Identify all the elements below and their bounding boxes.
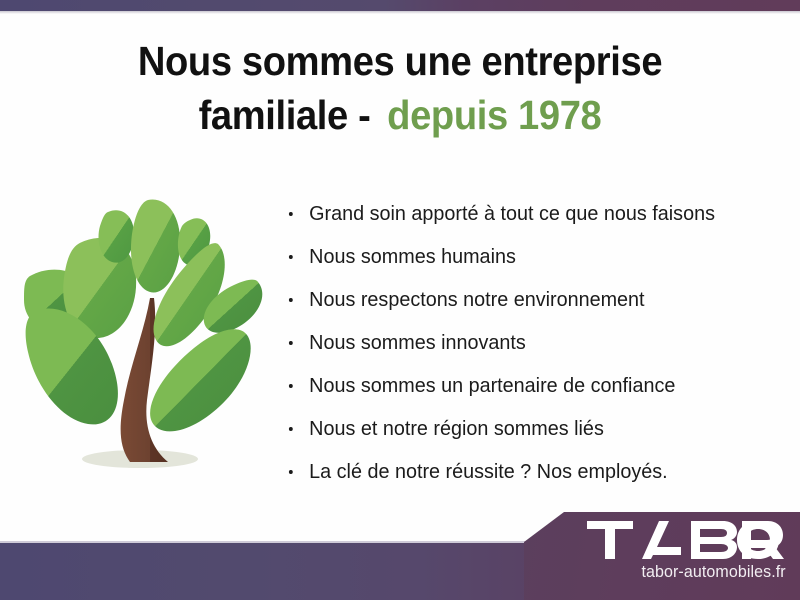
list-item: Nous sommes innovants [286,321,769,364]
list-item-label: Grand soin apporté à tout ce que nous fa… [309,202,715,225]
page-title-line-2-green: depuis 1978 [387,92,601,138]
value-list: Grand soin apporté à tout ce que nous fa… [286,192,786,493]
list-item: La clé de notre réussite ? Nos employés. [286,450,769,493]
list-item: Nous sommes humains [286,235,769,278]
tabor-wordmark-logo [587,521,787,559]
top-accent-bar-shadow [0,11,800,14]
page-title: Nous sommes une entreprise familiale -de… [28,34,772,142]
tree-leaf-top-center [131,200,180,293]
page-title-line-1: Nous sommes une entreprise [28,34,772,88]
list-item-label: Nous sommes un partenaire de confiance [309,374,675,397]
list-item-label: Nous respectons notre environnement [309,288,644,311]
page-title-line-2-black: familiale - [199,92,371,138]
bullet-dot-icon [289,341,293,345]
logo-panel: tabor-automobiles.fr [524,512,800,600]
list-item: Grand soin apporté à tout ce que nous fa… [286,192,769,235]
bullet-dot-icon [289,427,293,431]
list-item-label: Nous et notre région sommes liés [309,417,604,440]
tree-illustration [18,186,268,486]
list-item-label: Nous sommes innovants [309,331,526,354]
logo-url: tabor-automobiles.fr [642,563,786,582]
list-item-label: Nous sommes humains [309,245,516,268]
list-item: Nous et notre région sommes liés [286,407,769,450]
top-accent-bar [0,0,800,11]
slide-root: Nous sommes une entreprise familiale -de… [0,0,800,600]
list-item: Nous sommes un partenaire de confiance [286,364,769,407]
bullet-dot-icon [289,384,293,388]
bullet-dot-icon [289,298,293,302]
list-item: Nous respectons notre environnement [286,278,769,321]
list-item-label: La clé de notre réussite ? Nos employés. [309,460,667,483]
bullet-dot-icon [289,255,293,259]
bullet-dot-icon [289,470,293,474]
bullet-dot-icon [289,212,293,216]
page-title-line-2: familiale -depuis 1978 [28,88,772,142]
